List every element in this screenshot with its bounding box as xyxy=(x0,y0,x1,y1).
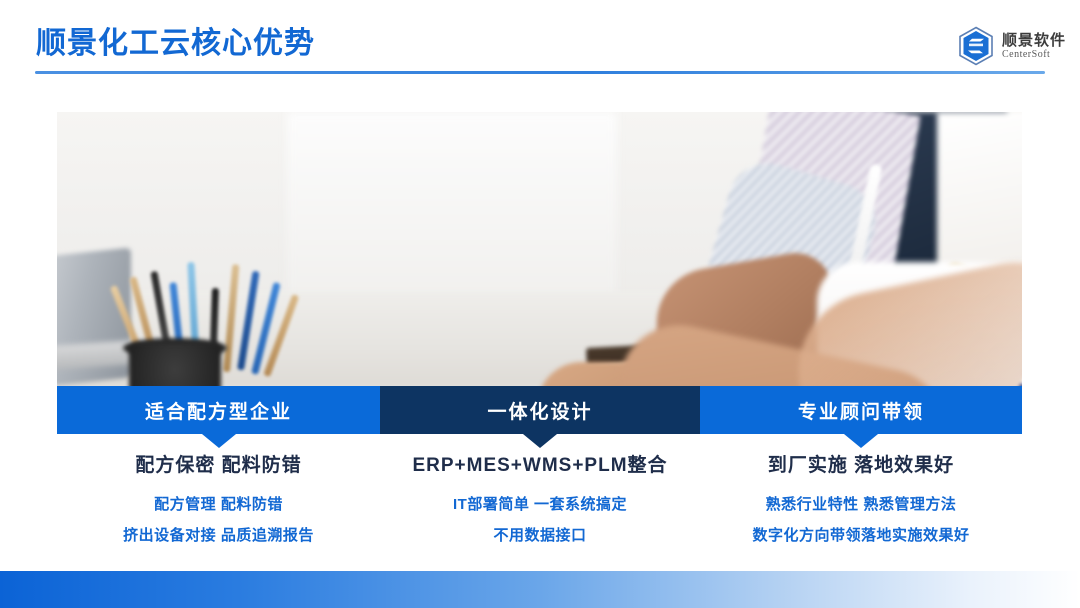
hexagon-s-logo-icon xyxy=(958,26,994,66)
column-body-1: 配方保密 配料防错 配方管理 配料防错 挤出设备对接 品质追溯报告 xyxy=(57,450,380,560)
column-point-1-2: 挤出设备对接 品质追溯报告 xyxy=(123,524,314,545)
column-point-3-1: 熟悉行业特性 熟悉管理方法 xyxy=(766,493,957,514)
logo-company-en: CenterSoft xyxy=(1002,50,1066,60)
company-logo: 顺景软件 CenterSoft xyxy=(958,26,1066,66)
column-arrow-icon-3 xyxy=(844,434,878,448)
title-underline-rule xyxy=(35,71,1045,74)
slide-root: 顺景化工云核心优势 顺景软件 CenterSoft xyxy=(0,0,1080,608)
column-point-2-1: IT部署简单 一套系统搞定 xyxy=(453,493,627,514)
column-header-bar-2[interactable]: 一体化设计 xyxy=(380,386,700,434)
column-lead-2: ERP+MES+WMS+PLM整合 xyxy=(412,450,667,477)
column-lead-3: 到厂实施 落地效果好 xyxy=(768,450,954,477)
column-header-bar-3[interactable]: 专业顾问带领 xyxy=(700,386,1022,434)
column-body-2: ERP+MES+WMS+PLM整合 IT部署简单 一套系统搞定 不用数据接口 xyxy=(380,450,700,560)
page-title: 顺景化工云核心优势 xyxy=(36,24,315,64)
logo-company-cn: 顺景软件 xyxy=(1002,33,1066,48)
column-point-1-1: 配方管理 配料防错 xyxy=(154,493,283,514)
column-header-bars: 适合配方型企业 一体化设计 专业顾问带领 xyxy=(57,386,1022,434)
column-header-label-3: 专业顾问带领 xyxy=(798,397,924,424)
column-point-3-2: 数字化方向带领落地实施效果好 xyxy=(752,524,969,545)
footer-gradient-bar xyxy=(0,571,1080,608)
column-header-bar-1[interactable]: 适合配方型企业 xyxy=(57,386,380,434)
column-arrow-icon-1 xyxy=(202,434,236,448)
column-body-3: 到厂实施 落地效果好 熟悉行业特性 熟悉管理方法 数字化方向带领落地实施效果好 xyxy=(700,450,1022,560)
column-header-label-1: 适合配方型企业 xyxy=(145,397,292,424)
column-lead-1: 配方保密 配料防错 xyxy=(135,450,301,477)
column-point-2-2: 不用数据接口 xyxy=(493,524,586,545)
office-desk-photo xyxy=(57,112,1022,387)
column-header-label-2: 一体化设计 xyxy=(487,397,592,424)
column-bodies: 配方保密 配料防错 配方管理 配料防错 挤出设备对接 品质追溯报告 ERP+ME… xyxy=(57,450,1022,560)
logo-text-block: 顺景软件 CenterSoft xyxy=(1002,33,1066,60)
slide-header: 顺景化工云核心优势 顺景软件 CenterSoft xyxy=(0,0,1080,90)
column-arrow-icon-2 xyxy=(523,434,557,448)
